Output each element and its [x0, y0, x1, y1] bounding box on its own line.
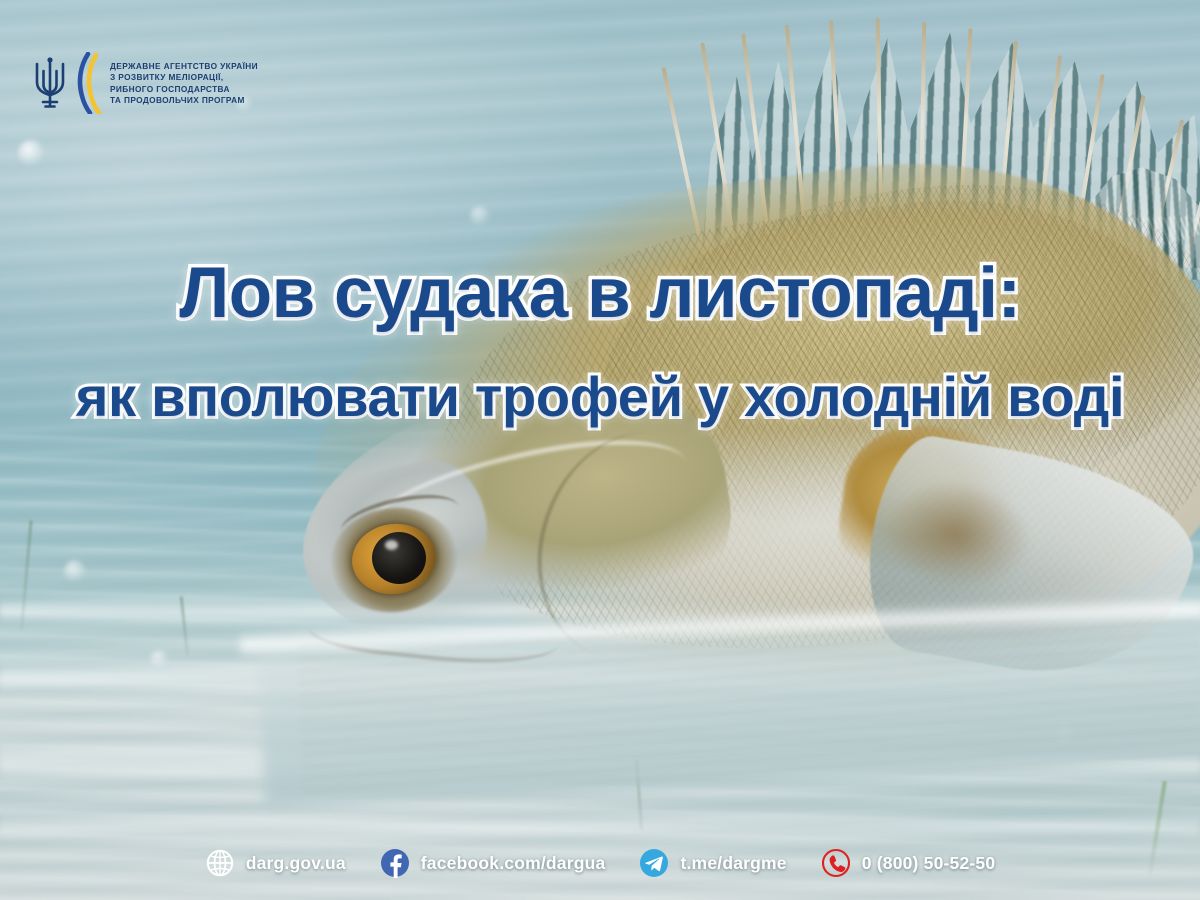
logo-line-1: ДЕРЖАВНЕ АГЕНТСТВО УКРАЇНИ — [110, 61, 258, 72]
fish-illustration — [0, 0, 1200, 900]
telegram-icon — [639, 848, 669, 878]
contact-website[interactable]: darg.gov.ua — [205, 848, 346, 878]
contact-facebook[interactable]: facebook.com/dargua — [380, 848, 606, 878]
phone-icon — [821, 848, 851, 878]
logo-line-3: РИБНОГО ГОСПОДАРСТВА — [110, 84, 258, 95]
agency-logo-text: ДЕРЖАВНЕ АГЕНТСТВО УКРАЇНИ З РОЗВИТКУ МЕ… — [110, 61, 258, 106]
phone-label: 0 (800) 50-52-50 — [862, 853, 996, 874]
logo-line-2: З РОЗВИТКУ МЕЛІОРАЦІЇ, — [110, 72, 258, 83]
facebook-label: facebook.com/dargua — [421, 853, 606, 874]
fish-eye-pupil — [372, 532, 426, 584]
facebook-icon — [380, 848, 410, 878]
logo-line-4: ТА ПРОДОВОЛЬЧИХ ПРОГРАМ — [110, 95, 258, 106]
contact-telegram[interactable]: t.me/dargme — [639, 848, 786, 878]
globe-icon — [205, 848, 235, 878]
footer-contact-bar: darg.gov.ua facebook.com/dargua t.me/dar… — [0, 848, 1200, 878]
fish-reflection — [298, 614, 1200, 795]
fish-eye-glint — [385, 540, 398, 550]
poster: ДЕРЖАВНЕ АГЕНТСТВО УКРАЇНИ З РОЗВИТКУ МЕ… — [0, 0, 1200, 900]
website-label: darg.gov.ua — [246, 853, 346, 874]
telegram-label: t.me/dargme — [680, 853, 786, 874]
agency-logo: ДЕРЖАВНЕ АГЕНТСТВО УКРАЇНИ З РОЗВИТКУ МЕ… — [30, 52, 258, 114]
blue-yellow-swoosh-icon — [77, 52, 105, 114]
ukraine-trident-icon — [30, 55, 70, 111]
contact-phone[interactable]: 0 (800) 50-52-50 — [821, 848, 996, 878]
